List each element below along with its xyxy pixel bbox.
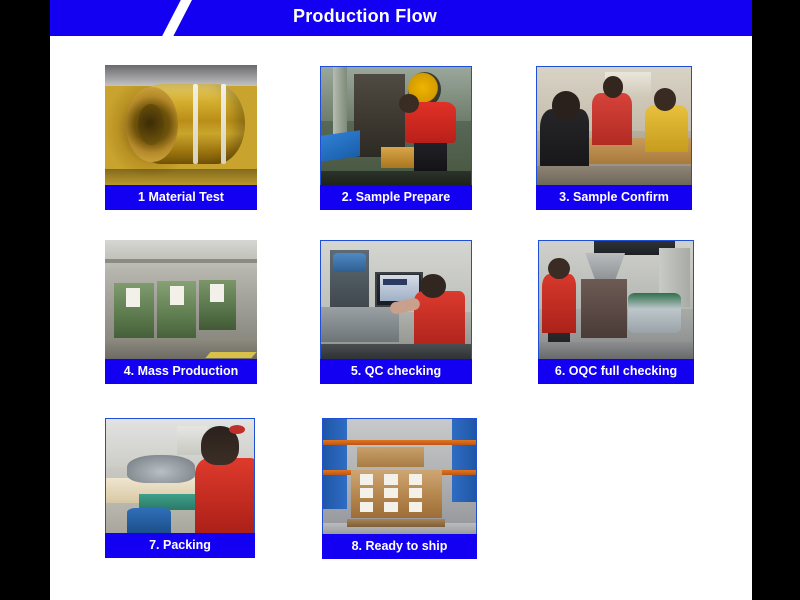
title-bar: Production Flow: [50, 0, 752, 36]
press-parts-box: [381, 147, 414, 168]
coil-background-top: [105, 65, 257, 86]
flow-step-8: 8. Ready to ship: [322, 418, 477, 559]
coil-strap-b: [221, 84, 226, 164]
qc-floor: [321, 344, 471, 359]
mass-production-image: [105, 240, 257, 360]
coil-hole: [138, 104, 164, 145]
step-5-caption: 5. QC checking: [320, 359, 472, 384]
press-floor: [321, 171, 471, 185]
carton-label-5: [384, 488, 398, 498]
wooden-pallet: [347, 519, 445, 527]
floor-marking-line: [206, 352, 257, 358]
step-4-photo: [105, 240, 257, 360]
carton-label-8: [384, 502, 398, 512]
flow-step-4: 4. Mass Production: [105, 240, 257, 384]
warehouse-rack-left: [323, 419, 347, 509]
step-3-photo: [536, 66, 692, 186]
oqc-sieve-unit: [628, 293, 680, 333]
step-1-caption: 1 Material Test: [105, 185, 257, 210]
qc-screen-content-bar: [383, 279, 407, 285]
factory-roof: [105, 240, 257, 271]
confirm-person-right-head: [654, 88, 676, 110]
carton-label-3: [409, 474, 423, 484]
carton-label-9: [409, 502, 423, 512]
step-7-photo: [105, 418, 255, 534]
rack-beam-upper: [323, 440, 476, 446]
packing-image: [106, 419, 254, 533]
sample-confirm-image: [537, 67, 691, 185]
warehouse-rack-right: [452, 419, 476, 502]
coil-strap-a: [193, 84, 198, 164]
oqc-machine-body: [581, 279, 627, 338]
upper-cartons: [357, 447, 424, 468]
step-6-photo: [538, 240, 694, 360]
flow-step-2: 2. Sample Prepare: [320, 66, 472, 210]
flow-step-3: 3. Sample Confirm: [536, 66, 692, 210]
qc-operator-head: [420, 274, 446, 298]
packing-worker-torso: [195, 458, 255, 533]
step-8-caption: 8. Ready to ship: [322, 534, 477, 559]
press-machine-body: [354, 74, 405, 157]
step-3-caption: 3. Sample Confirm: [536, 185, 692, 210]
press-column: [333, 67, 347, 140]
step-5-photo: [320, 240, 472, 360]
qc-operator-torso: [414, 291, 465, 348]
slide-canvas: Production Flow 1 Material Test: [0, 0, 800, 600]
flow-step-1: 1 Material Test: [105, 65, 257, 210]
machine-1-card: [126, 288, 140, 307]
qc-microscope-head: [333, 253, 366, 272]
confirm-floor: [537, 166, 691, 185]
step-6-caption: 6. OQC full checking: [538, 359, 694, 384]
step-7-caption: 7. Packing: [105, 533, 255, 558]
step-2-photo: [320, 66, 472, 186]
qc-bench: [321, 307, 399, 342]
flow-step-7: 7. Packing: [105, 418, 255, 558]
confirm-person-center-torso: [592, 93, 632, 145]
carton-label-1: [360, 474, 374, 484]
carton-label-7: [360, 502, 374, 512]
press-worker-legs: [414, 138, 447, 173]
carton-label-2: [384, 474, 398, 484]
step-8-photo: [322, 418, 477, 535]
oqc-operator-torso: [542, 274, 576, 333]
step-4-caption: 4. Mass Production: [105, 359, 257, 384]
press-machine-image: [321, 67, 471, 185]
press-worker-head: [399, 94, 419, 113]
factory-beam: [105, 259, 257, 263]
brass-coil-image: [105, 65, 257, 186]
qc-checking-image: [321, 241, 471, 359]
page-title: Production Flow: [230, 3, 500, 30]
coil-shadow: [105, 169, 257, 186]
oqc-checking-image: [539, 241, 693, 359]
machine-3-card: [210, 284, 224, 302]
carton-label-6: [409, 488, 423, 498]
press-blue-sheet: [321, 130, 360, 161]
packing-blue-basin: [127, 508, 171, 533]
ready-to-ship-image: [323, 419, 476, 534]
confirm-person-right-torso: [645, 105, 688, 152]
packing-worker-hair-tie: [229, 425, 245, 434]
flow-step-5: 5. QC checking: [320, 240, 472, 384]
confirm-person-center-head: [603, 76, 623, 97]
oqc-floor: [539, 342, 693, 359]
oqc-operator-head: [548, 258, 570, 279]
confirm-person-left-head: [552, 91, 580, 119]
machine-2-card: [170, 286, 184, 305]
step-2-caption: 2. Sample Prepare: [320, 185, 472, 210]
flow-step-6: 6. OQC full checking: [538, 240, 694, 384]
carton-label-4: [360, 488, 374, 498]
packing-parts-pile: [127, 455, 195, 482]
step-1-photo: [105, 65, 257, 186]
